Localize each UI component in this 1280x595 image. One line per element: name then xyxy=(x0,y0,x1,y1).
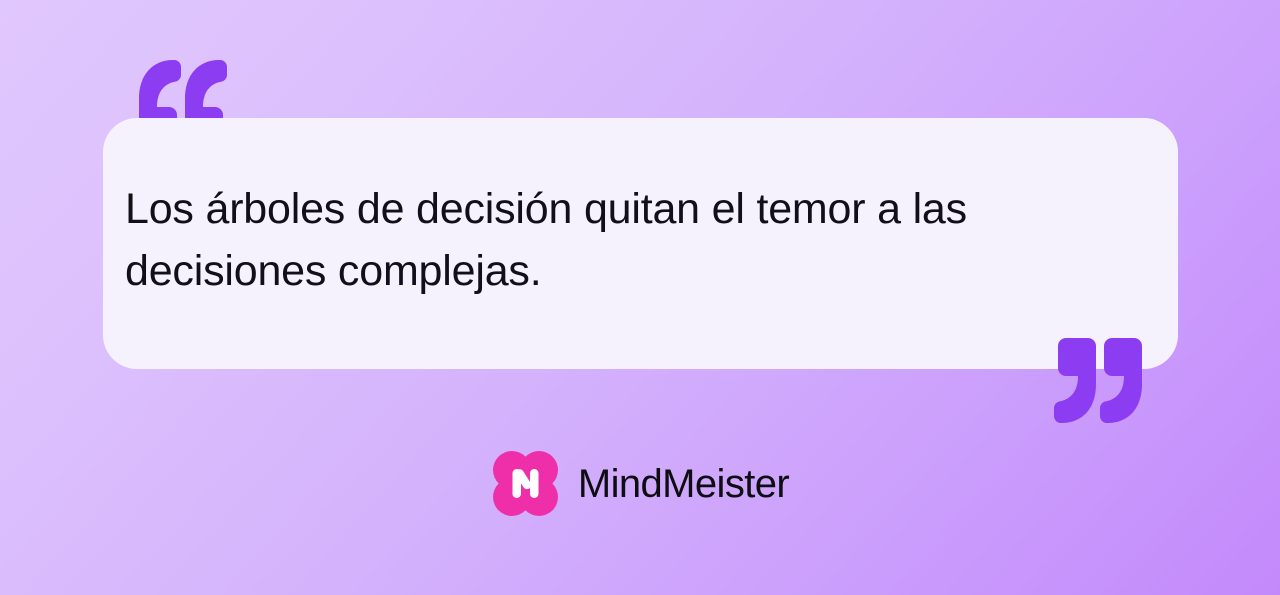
quote-close-icon xyxy=(1054,338,1146,423)
brand-lockup: MindMeister xyxy=(0,449,1280,518)
quote-poster: Los árboles de decisión quitan el temor … xyxy=(0,0,1280,595)
brand-name: MindMeister xyxy=(578,464,789,504)
mindmeister-clover-logo-icon xyxy=(491,449,560,518)
quote-text: Los árboles de decisión quitan el temor … xyxy=(125,178,1085,302)
quote-card: Los árboles de decisión quitan el temor … xyxy=(103,118,1178,369)
